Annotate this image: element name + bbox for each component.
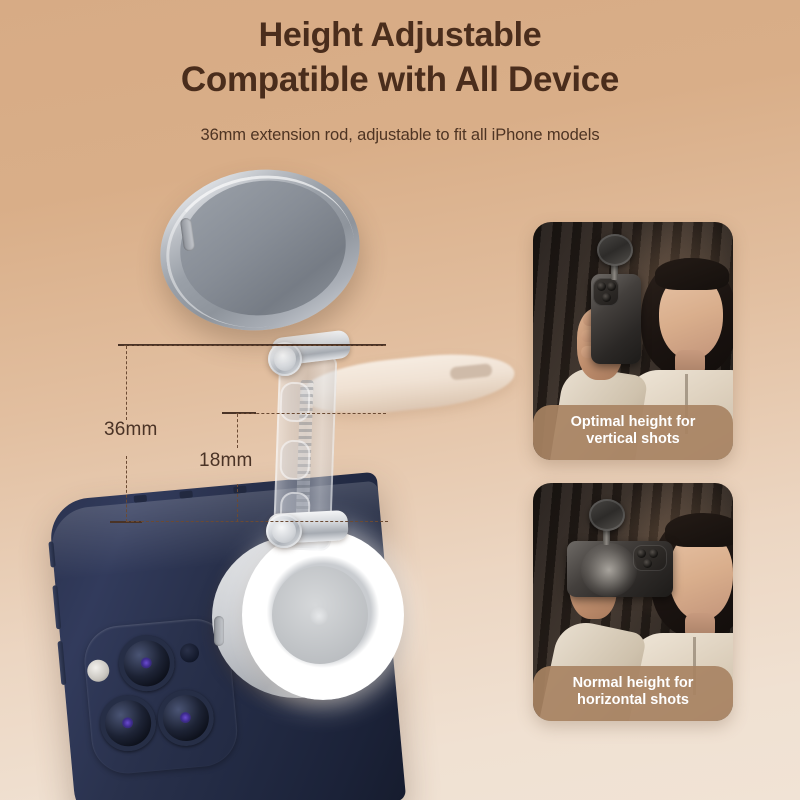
held-phone-camera (593, 278, 619, 306)
dimension-18mm-label: 18mm (199, 450, 253, 472)
phone-antenna-band (233, 486, 247, 494)
upper-hinge-cap (274, 347, 296, 371)
phone-antenna-band (134, 495, 148, 503)
caption-line-2: horizontal shots (539, 692, 727, 710)
held-phone-lens (637, 549, 646, 558)
dimension-18mm-line-lower (237, 484, 238, 522)
dimension-36mm-line-upper (126, 346, 127, 420)
dimension-36mm-top-leader (124, 345, 386, 346)
photo-caption-horizontal: Normal height for horizontal shots (533, 666, 733, 721)
held-phone-lens (597, 282, 606, 291)
extension-rod-slot (279, 439, 310, 480)
camera-lens-telephoto (155, 688, 216, 749)
camera-lens-wide (116, 633, 177, 694)
dimension-baseline-leader (126, 521, 388, 522)
photo-card-horizontal-shots[interactable]: Normal height for horizontal shots (533, 483, 733, 721)
held-phone-camera (633, 545, 667, 571)
folded-light-disc (160, 170, 360, 345)
photo-card-vertical-shots[interactable]: Optimal height for vertical shots (533, 222, 733, 460)
lower-hinge-cap (272, 519, 296, 543)
dimension-18mm-line-upper (237, 414, 238, 448)
lower-hinge-joint (266, 514, 302, 548)
held-phone-lens (643, 559, 652, 568)
phone-volume-down-button (57, 641, 66, 685)
usb-c-port-icon (214, 616, 224, 646)
extension-arm (262, 336, 358, 566)
model-fringe (655, 258, 729, 290)
ring-light-center-dome (272, 566, 368, 664)
accessory-light-head (589, 499, 625, 531)
product-marketing-image: Height Adjustable Compatible with All De… (0, 0, 800, 800)
dimension-36mm-line-lower (126, 456, 127, 522)
extension-rod-slot (279, 381, 310, 422)
held-phone-lens (607, 282, 616, 291)
caption-line-2: vertical shots (539, 431, 727, 449)
held-phone-lens (602, 293, 611, 302)
accessory-ring-glow (581, 543, 637, 597)
model-fringe (665, 513, 733, 547)
caption-line-1: Optimal height for (539, 414, 727, 432)
phone-volume-up-button (52, 585, 61, 629)
camera-lens-ultrawide (98, 693, 159, 754)
photo-caption-vertical: Optimal height for vertical shots (533, 405, 733, 460)
product-scene: 36mm 18mm (0, 0, 520, 800)
accessory-light-head (597, 234, 633, 266)
lidar-sensor (179, 643, 200, 664)
upper-hinge-joint (268, 342, 302, 376)
dimension-36mm-label: 36mm (104, 419, 158, 441)
dimension-18mm-top-leader (236, 413, 386, 414)
camera-flash (86, 659, 110, 683)
held-phone-lens (649, 549, 658, 558)
phone-antenna-band (179, 490, 193, 498)
disc-rim-highlight (156, 164, 364, 340)
caption-line-1: Normal height for (539, 675, 727, 693)
